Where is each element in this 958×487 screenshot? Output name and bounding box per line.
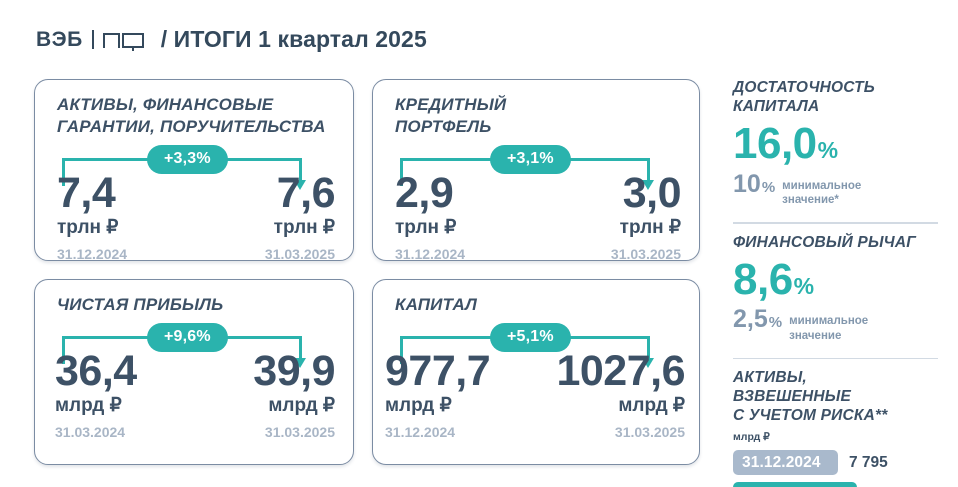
rwa-bar-1: 31.03.2025	[733, 482, 857, 487]
value-date: 31.03.2025	[611, 246, 681, 263]
value-to: 1027,6 млрд ₽ 31.03.2025	[556, 351, 685, 440]
value-unit: млрд ₽	[385, 395, 490, 417]
rwa-bar-0: 31.12.2024	[733, 450, 838, 475]
metric-card-net-profit: ЧИСТАЯ ПРИБЫЛЬ +9,6% 36,4 млрд ₽ 31.03.2…	[34, 279, 354, 465]
growth-badge: +3,1%	[490, 145, 571, 174]
percent-sign: %	[794, 273, 814, 300]
capital-adequacy-min-value: 10	[733, 172, 761, 197]
sidebar-divider-1	[733, 222, 938, 223]
metric-card-credit-portfolio: КРЕДИТНЫЙПОРТФЕЛЬ +3,1% 2,9 трлн ₽ 31.12…	[372, 79, 700, 261]
rf-logo-icon	[103, 31, 144, 48]
value-date: 31.12.2024	[385, 424, 490, 441]
value-to: 3,0 трлн ₽ 31.03.2025	[611, 173, 681, 262]
growth-badge: +9,6%	[147, 323, 228, 352]
value-unit: трлн ₽	[57, 217, 127, 239]
capital-adequacy-min-row: 10 % минимальноезначение*	[733, 172, 938, 211]
financial-leverage-value-row: 8,6 %	[733, 259, 938, 301]
metric-card-assets: АКТИВЫ, ФИНАНСОВЫЕГАРАНТИИ, ПОРУЧИТЕЛЬСТ…	[34, 79, 354, 261]
value-date: 31.12.2024	[57, 246, 127, 263]
metric-card-capital: КАПИТАЛ +5,1% 977,7 млрд ₽ 31.12.2024 10…	[372, 279, 700, 465]
value-number: 7,6	[265, 173, 335, 214]
value-date: 31.03.2025	[265, 246, 335, 263]
value-number: 7,4	[57, 173, 127, 214]
value-unit: трлн ₽	[395, 217, 465, 239]
financial-leverage-min-value: 2,5	[733, 307, 768, 332]
financial-leverage-min-row: 2,5 % минимальноезначение	[733, 307, 938, 346]
page-title: / ИТОГИ 1 квартал 2025	[161, 26, 427, 53]
logo-f-glyph	[122, 33, 144, 50]
value-number: 3,0	[611, 173, 681, 214]
percent-sign: %	[769, 314, 782, 331]
value-date: 31.03.2025	[253, 424, 335, 441]
value-to: 39,9 млрд ₽ 31.03.2025	[253, 351, 335, 440]
rwa-title: АКТИВЫ,ВЗВЕШЕННЫЕС УЧЕТОМ РИСКА**	[733, 369, 938, 426]
logo-text: ВЭБ	[36, 28, 83, 52]
percent-sign: %	[762, 179, 775, 196]
card-title: ЧИСТАЯ ПРИБЫЛЬ	[57, 294, 339, 316]
sidebar-divider-2	[733, 358, 938, 359]
ratios-sidebar: ДОСТАТОЧНОСТЬКАПИТАЛА 16,0 % 10 % минима…	[733, 79, 938, 487]
value-from: 7,4 трлн ₽ 31.12.2024	[57, 173, 127, 262]
percent-sign: %	[818, 137, 838, 164]
capital-adequacy-min-caption: минимальноезначение*	[782, 179, 861, 208]
logo-divider-icon	[92, 30, 94, 49]
card-title: КРЕДИТНЫЙПОРТФЕЛЬ	[395, 94, 685, 138]
value-unit: трлн ₽	[611, 217, 681, 239]
value-unit: млрд ₽	[253, 395, 335, 417]
financial-leverage-value: 8,6	[733, 259, 793, 301]
value-number: 1027,6	[556, 351, 685, 392]
capital-adequacy-value-row: 16,0 %	[733, 123, 938, 165]
value-date: 31.03.2025	[556, 424, 685, 441]
rwa-bar-value-0: 7 795	[849, 454, 888, 472]
logo-p-glyph	[103, 33, 120, 48]
value-unit: трлн ₽	[265, 217, 335, 239]
card-title: АКТИВЫ, ФИНАНСОВЫЕГАРАНТИИ, ПОРУЧИТЕЛЬСТ…	[57, 94, 339, 138]
value-unit: млрд ₽	[556, 395, 685, 417]
value-date: 31.12.2024	[395, 246, 465, 263]
value-unit: млрд ₽	[55, 395, 137, 417]
value-from: 36,4 млрд ₽ 31.03.2024	[55, 351, 137, 440]
capital-adequacy-title: ДОСТАТОЧНОСТЬКАПИТАЛА	[733, 79, 938, 117]
page-header: ВЭБ / ИТОГИ 1 квартал 2025	[36, 26, 427, 53]
rwa-bar-label-0: 31.12.2024	[742, 454, 821, 472]
value-from: 2,9 трлн ₽ 31.12.2024	[395, 173, 465, 262]
financial-leverage-block: ФИНАНСОВЫЙ РЫЧАГ 8,6 % 2,5 % минимальное…	[733, 234, 938, 346]
rwa-unit-label: млрд ₽	[733, 431, 938, 443]
rwa-bar-row-1: 31.03.2025 8 350	[733, 482, 938, 487]
value-to: 7,6 трлн ₽ 31.03.2025	[265, 173, 335, 262]
financial-leverage-title: ФИНАНСОВЫЙ РЫЧАГ	[733, 234, 938, 253]
card-title: КАПИТАЛ	[395, 294, 685, 316]
capital-adequacy-block: ДОСТАТОЧНОСТЬКАПИТАЛА 16,0 % 10 % минима…	[733, 79, 938, 210]
value-number: 977,7	[385, 351, 490, 392]
value-number: 2,9	[395, 173, 465, 214]
rwa-block: АКТИВЫ,ВЗВЕШЕННЫЕС УЧЕТОМ РИСКА** млрд ₽…	[733, 369, 938, 487]
financial-leverage-min-caption: минимальноезначение	[789, 314, 868, 343]
capital-adequacy-value: 16,0	[733, 123, 817, 165]
growth-badge: +3,3%	[147, 145, 228, 174]
value-number: 39,9	[253, 351, 335, 392]
value-date: 31.03.2024	[55, 424, 137, 441]
infographic-page: ВЭБ / ИТОГИ 1 квартал 2025 АКТИВЫ, ФИНАН…	[0, 0, 958, 487]
value-from: 977,7 млрд ₽ 31.12.2024	[385, 351, 490, 440]
rwa-bar-row-0: 31.12.2024 7 795	[733, 450, 938, 475]
value-number: 36,4	[55, 351, 137, 392]
